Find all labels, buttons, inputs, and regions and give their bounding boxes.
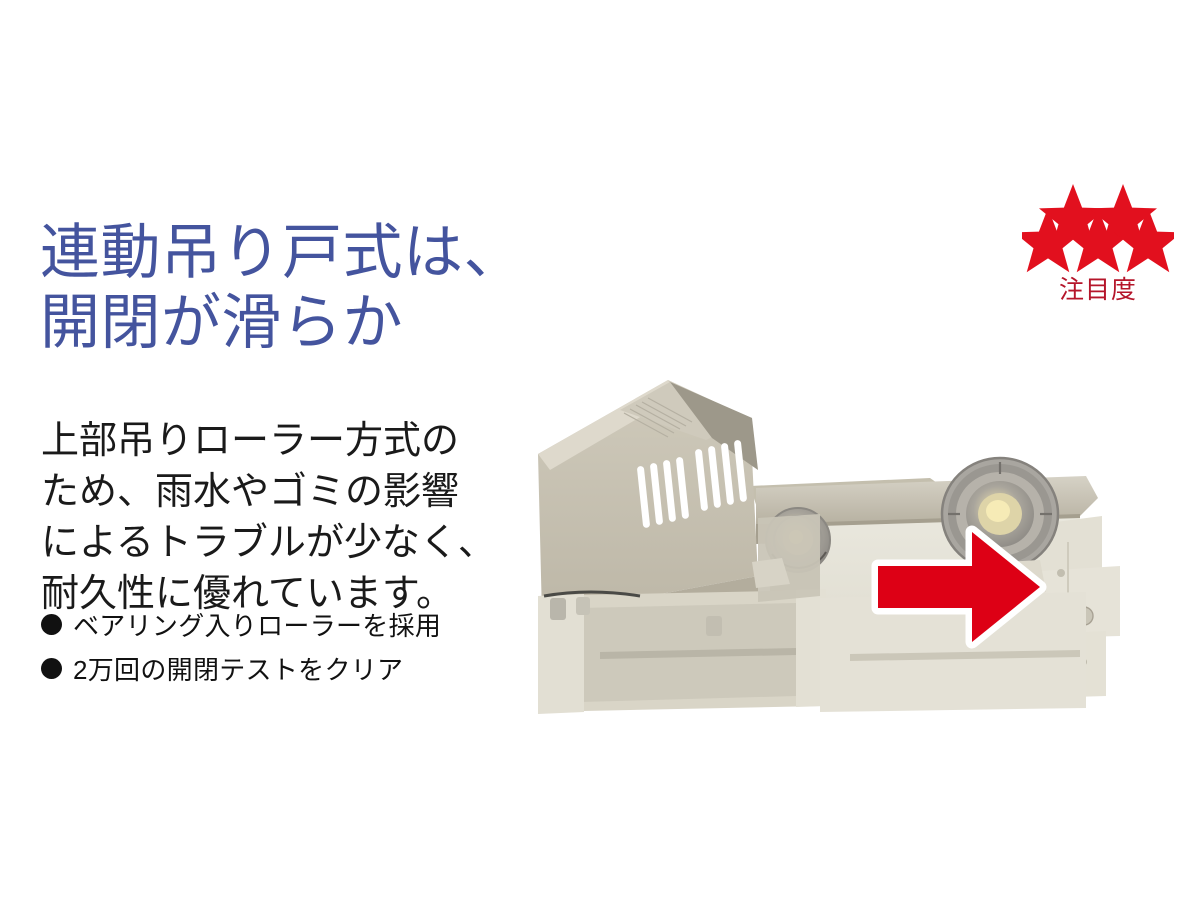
list-item: 2万回の開閉テストをクリア [41,646,511,690]
roller-cover-plate [758,514,820,602]
bracket-icon [706,616,722,636]
bracket-icon [550,598,566,620]
body-line-3: によるトラブルが少なく、 [41,518,531,569]
bullet-dot-icon [41,658,62,679]
attention-badge: 注目度 [1022,182,1174,310]
product-photo [520,366,1154,726]
list-item-label: ベアリング入りローラーを採用 [73,606,441,643]
list-item: ベアリング入りローラーを採用 [41,602,511,646]
feature-list: ベアリング入りローラーを採用 2万回の開閉テストをクリア [41,602,511,690]
list-item-label: 2万回の開閉テストをクリア [73,650,403,687]
body-paragraph: 上部吊りローラー方式の ため、雨水やゴミの影響 によるトラブルが少なく、 耐久性… [41,416,531,620]
shed-roller-illustration [520,366,1154,726]
headline-line-2: 開閉が滑らか [40,288,560,358]
badge-label: 注目度 [1022,270,1174,306]
five-stars-icon [1022,182,1174,274]
headline-line-1: 連動吊り戸式は、 [40,218,560,288]
body-line-2: ため、雨水やゴミの影響 [41,467,531,518]
screw-icon [1057,569,1065,577]
bracket-icon [576,597,590,615]
page-title: 連動吊り戸式は、 開閉が滑らか [40,218,560,357]
roller-hub [986,500,1010,522]
slide-canvas: 連動吊り戸式は、 開閉が滑らか 上部吊りローラー方式の ため、雨水やゴミの影響 … [0,0,1200,900]
body-line-1: 上部吊りローラー方式の [41,416,531,467]
bullet-dot-icon [41,614,62,635]
